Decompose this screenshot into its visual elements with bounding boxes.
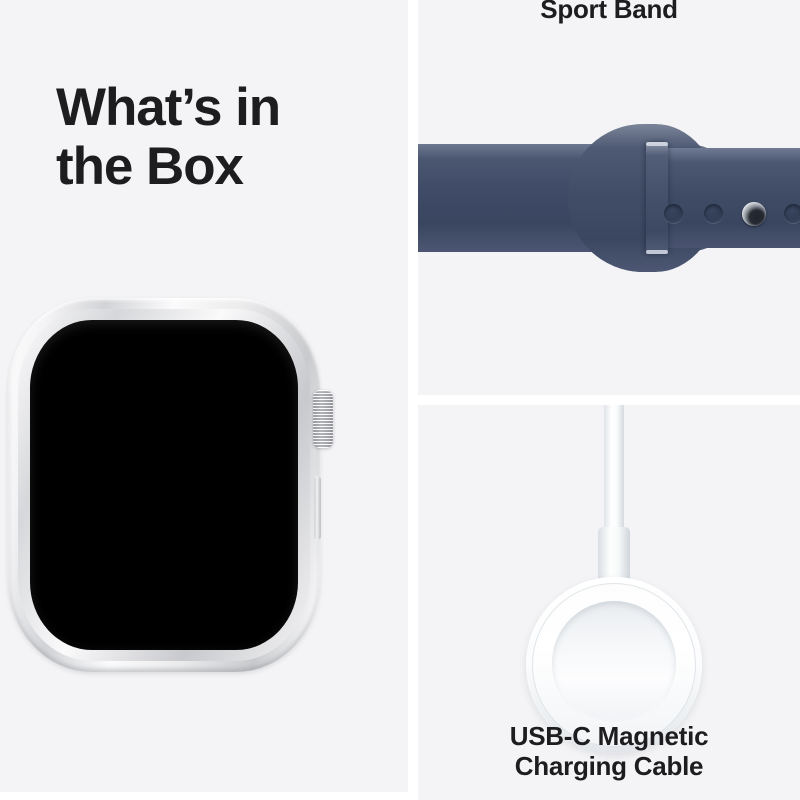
whats-in-the-box-figure: What’s inthe Box Sport Band: [0, 0, 800, 800]
charging-cable-caption-line-2: Charging Cable: [418, 751, 800, 781]
panel-watch-case: What’s inthe Box: [0, 0, 408, 792]
sport-band-illustration: [418, 118, 800, 278]
band-keeper-edge-top: [646, 142, 668, 146]
band-keeper-loop: [646, 142, 668, 254]
watch-case-body: [8, 298, 320, 672]
band-hole: [664, 204, 683, 223]
band-tail: [654, 148, 800, 248]
band-hole: [704, 204, 723, 223]
panel-sport-band: Sport Band: [418, 0, 800, 395]
charging-cable-caption-line-1: USB-C Magnetic: [510, 721, 709, 751]
side-button-icon: [314, 476, 321, 540]
band-keeper-edge-bottom: [646, 250, 668, 254]
panel-charging-cable: USB-C MagneticCharging Cable: [418, 405, 800, 800]
page-title-line-1: What’s in: [56, 78, 280, 137]
charging-cable-caption: USB-C MagneticCharging Cable: [418, 721, 800, 781]
page-title-line-2: the Box: [56, 137, 376, 196]
band-fastening-pin: [742, 202, 766, 226]
digital-crown-icon: [313, 390, 333, 448]
band-hole: [784, 204, 800, 223]
watch-display-screen: [30, 320, 298, 650]
cable-wire: [604, 405, 624, 533]
page-title: What’s inthe Box: [56, 78, 376, 197]
sport-band-caption: Sport Band: [418, 0, 800, 24]
charging-puck-face: [552, 601, 676, 725]
apple-watch-illustration: [8, 298, 320, 672]
